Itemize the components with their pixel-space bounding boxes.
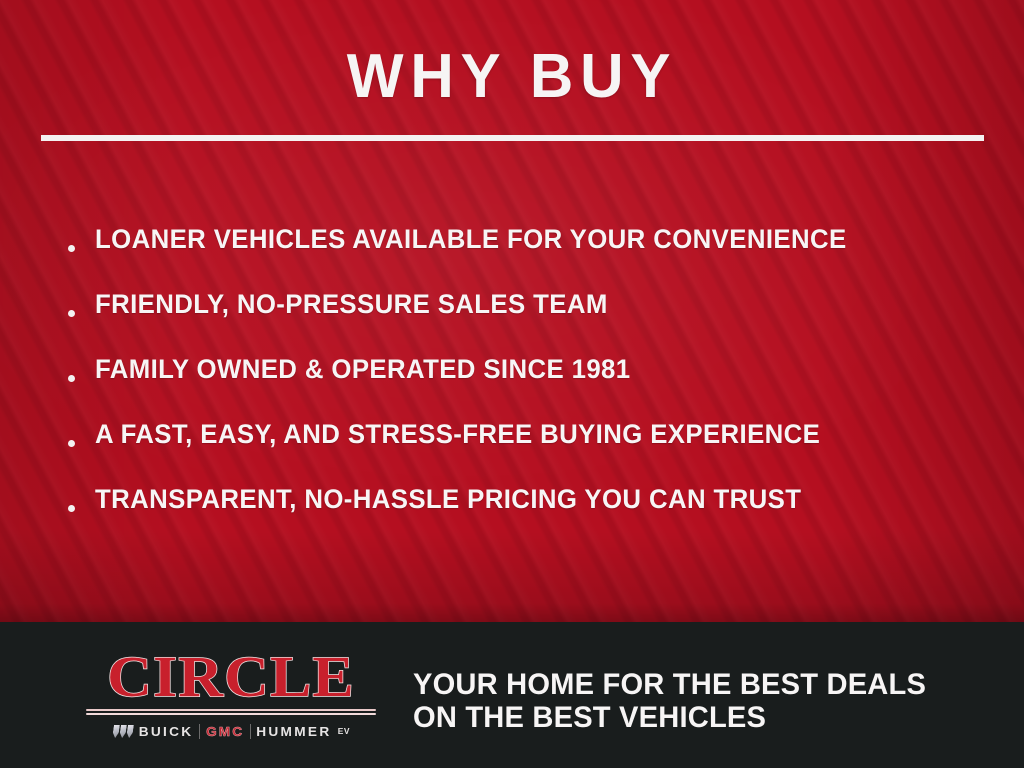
why-buy-bullet-list: LOANER VEHICLES AVAILABLE FOR YOUR CONVE…: [60, 222, 1000, 547]
dealer-logo-wordmark: CIRCLE: [76, 650, 386, 704]
dealer-logo: CIRCLE BUICK GMC HUMMER EV: [86, 650, 376, 741]
bullet-text: FRIENDLY, NO-PRESSURE SALES TEAM: [95, 287, 959, 321]
bullet-dot-icon: [68, 245, 75, 252]
slide-root: WHY BUY LOANER VEHICLES AVAILABLE FOR YO…: [0, 0, 1024, 768]
page-title: WHY BUY: [15, 46, 1008, 108]
footer-tagline-line-1: YOUR HOME FOR THE BEST DEALS: [413, 668, 976, 701]
buick-tri-shield-icon: [113, 725, 133, 738]
footer-bar: CIRCLE BUICK GMC HUMMER EV YOUR HO: [0, 622, 1024, 768]
bullet-text: TRANSPARENT, NO-HASSLE PRICING YOU CAN T…: [95, 482, 959, 516]
brand-label-gmc: GMC: [206, 724, 244, 739]
brand-divider-icon: [250, 724, 251, 739]
footer-tagline-line-2: ON THE BEST VEHICLES: [413, 701, 976, 734]
brand-divider-icon: [199, 724, 200, 739]
bullet-dot-icon: [68, 505, 75, 512]
bullet-text: A FAST, EASY, AND STRESS-FREE BUYING EXP…: [95, 417, 959, 451]
bullet-text: LOANER VEHICLES AVAILABLE FOR YOUR CONVE…: [95, 222, 959, 256]
brand-badge-row: BUICK GMC HUMMER EV: [86, 721, 376, 741]
logo-divider-rules: [86, 709, 376, 715]
list-item: FAMILY OWNED & OPERATED SINCE 1981: [60, 352, 1000, 417]
brand-label-hummer-ev-suffix: EV: [337, 727, 349, 736]
list-item: FRIENDLY, NO-PRESSURE SALES TEAM: [60, 287, 1000, 352]
hero-panel: WHY BUY LOANER VEHICLES AVAILABLE FOR YO…: [0, 0, 1024, 622]
list-item: LOANER VEHICLES AVAILABLE FOR YOUR CONVE…: [60, 222, 1000, 287]
brand-label-hummer: HUMMER: [256, 724, 331, 739]
logo-rule-bottom: [86, 713, 376, 715]
list-item: TRANSPARENT, NO-HASSLE PRICING YOU CAN T…: [60, 482, 1000, 547]
logo-rule-top: [86, 709, 376, 711]
footer-tagline: YOUR HOME FOR THE BEST DEALS ON THE BEST…: [413, 668, 976, 734]
bullet-dot-icon: [68, 375, 75, 382]
bullet-dot-icon: [68, 440, 75, 447]
title-divider-rule: [41, 135, 984, 141]
brand-label-buick: BUICK: [138, 724, 193, 739]
bullet-text: FAMILY OWNED & OPERATED SINCE 1981: [95, 352, 959, 386]
bullet-dot-icon: [68, 310, 75, 317]
list-item: A FAST, EASY, AND STRESS-FREE BUYING EXP…: [60, 417, 1000, 482]
